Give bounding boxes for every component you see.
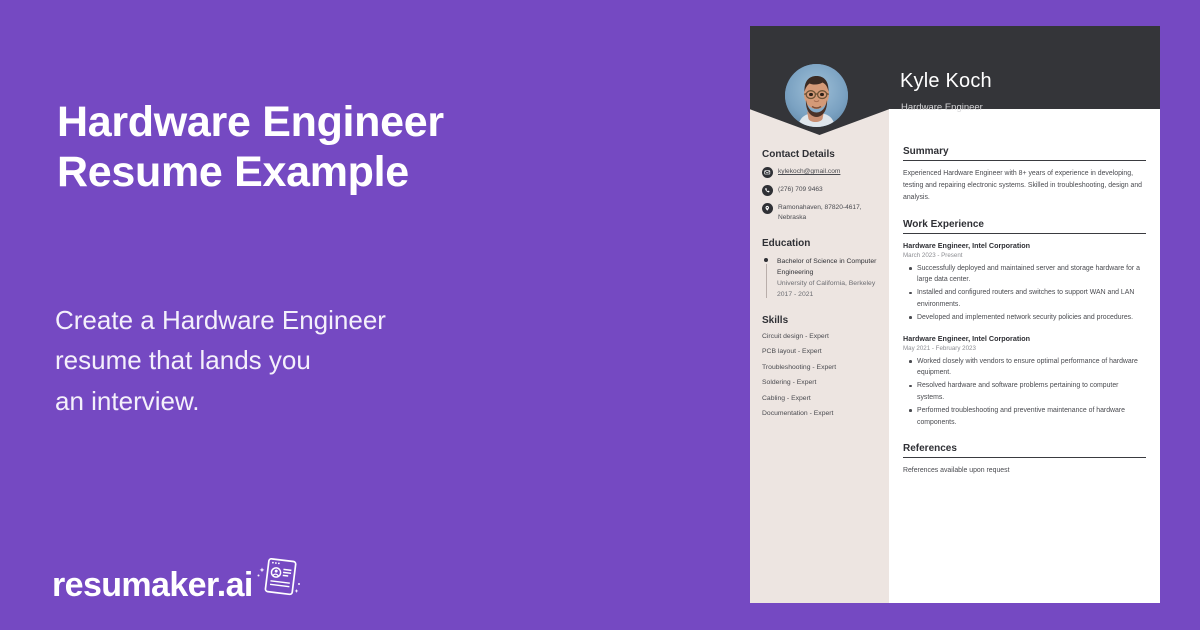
job-entry: Hardware Engineer, Intel Corporation May… (903, 334, 1146, 429)
job-dates: May 2021 - February 2023 (903, 345, 1146, 352)
job-dates: March 2023 - Present (903, 252, 1146, 259)
resume-preview-card[interactable]: Kyle Koch Hardware Engineer Contact Deta… (750, 26, 1160, 603)
job-bullet: Worked closely with vendors to ensure op… (903, 356, 1146, 379)
job-title: Hardware Engineer, Intel Corporation (903, 241, 1146, 250)
contact-details-section: Contact Details kylekoch@gmail.com (762, 149, 877, 223)
job-bullet: Successfully deployed and maintained ser… (903, 263, 1146, 286)
skill-item: Documentation - Expert (762, 410, 877, 417)
skill-item: Cabling - Expert (762, 395, 877, 402)
job-bullet: Developed and implemented network securi… (903, 312, 1146, 324)
summary-text: Experienced Hardware Engineer with 8+ ye… (903, 168, 1146, 204)
resume-document-icon (255, 553, 301, 604)
job-bullet: Resolved hardware and software problems … (903, 380, 1146, 403)
contact-address-text: Ramonahaven, 87820-4617, Nebraska (778, 203, 877, 223)
references-heading: References (903, 443, 1146, 458)
education-item: Bachelor of Science in Computer Engineer… (762, 256, 877, 300)
phone-icon (762, 185, 773, 196)
summary-heading: Summary (903, 146, 1146, 161)
job-entry: Hardware Engineer, Intel Corporation Mar… (903, 241, 1146, 324)
contact-phone-text: (276) 709 9463 (778, 185, 823, 195)
work-experience-heading: Work Experience (903, 219, 1146, 234)
skill-item: PCB layout - Expert (762, 348, 877, 355)
resume-name: Kyle Koch (900, 70, 992, 93)
job-bullet: Installed and configured routers and swi… (903, 287, 1146, 310)
avatar (785, 64, 848, 127)
skill-item: Circuit design - Expert (762, 333, 877, 340)
job-bullet: Performed troubleshooting and preventive… (903, 405, 1146, 428)
references-section: References References available upon req… (903, 443, 1146, 476)
contact-email-text: kylekoch@gmail.com (778, 167, 840, 177)
education-degree: Bachelor of Science in Computer Engineer… (777, 256, 877, 278)
resume-role: Hardware Engineer (901, 102, 983, 113)
promo-banner: Hardware Engineer Resume Example Create … (0, 0, 1200, 630)
resumaker-logo[interactable]: resumaker.ai (52, 553, 301, 602)
timeline-line (766, 264, 767, 298)
envelope-icon (762, 167, 773, 178)
education-heading: Education (762, 238, 877, 249)
location-pin-icon (762, 203, 773, 214)
skills-section: Skills Circuit design - Expert PCB layou… (762, 315, 877, 418)
references-text: References available upon request (903, 465, 1146, 476)
education-timeline (762, 256, 773, 300)
skill-item: Soldering - Expert (762, 379, 877, 386)
education-dates: 2017 - 2021 (777, 289, 877, 300)
logo-wordmark: resumaker.ai (52, 568, 253, 602)
education-school: University of California, Berkeley (777, 278, 877, 289)
education-section: Education Bachelor of Science in Compute… (762, 238, 877, 300)
timeline-dot-icon (764, 258, 768, 262)
contact-item-email[interactable]: kylekoch@gmail.com (762, 167, 877, 178)
summary-section: Summary Experienced Hardware Engineer wi… (903, 146, 1146, 204)
contact-details-heading: Contact Details (762, 149, 877, 160)
skills-heading: Skills (762, 315, 877, 326)
contact-item-address[interactable]: Ramonahaven, 87820-4617, Nebraska (762, 203, 877, 223)
promo-subheadline: Create a Hardware Engineer resume that l… (55, 300, 475, 421)
page-title: Hardware Engineer Resume Example (57, 98, 697, 198)
job-title: Hardware Engineer, Intel Corporation (903, 334, 1146, 343)
contact-item-phone[interactable]: (276) 709 9463 (762, 185, 877, 196)
skill-item: Troubleshooting - Expert (762, 364, 877, 371)
promo-panel: Hardware Engineer Resume Example Create … (0, 0, 750, 630)
work-experience-section: Work Experience Hardware Engineer, Intel… (903, 219, 1146, 429)
